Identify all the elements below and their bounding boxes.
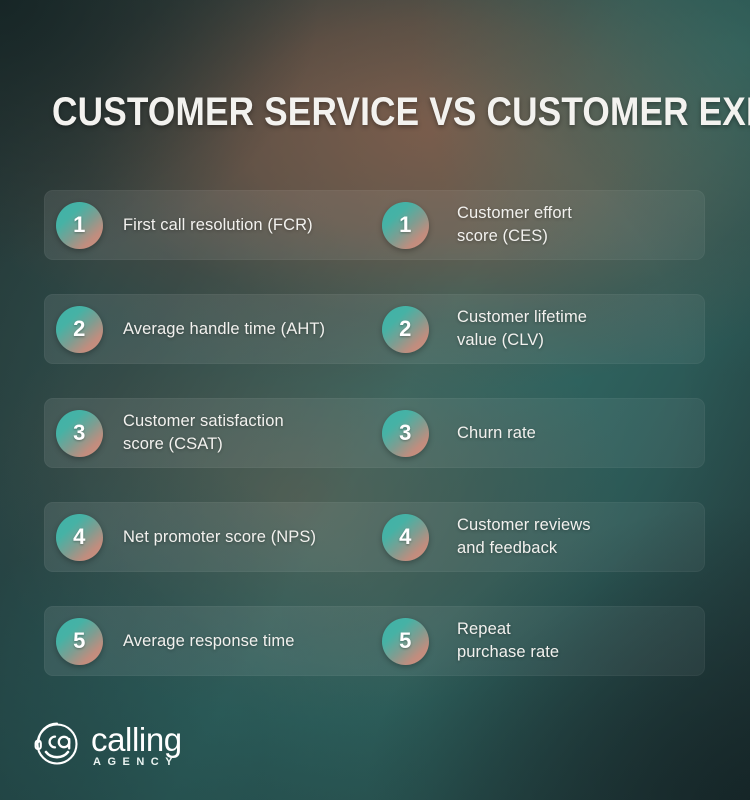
- customer-service-cell: 2 Average handle time (AHT): [44, 294, 374, 364]
- number-badge: 2: [382, 306, 429, 353]
- metric-label: Churn rate: [457, 422, 536, 445]
- metric-label: Customer lifetime value (CLV): [457, 306, 587, 352]
- metric-label: Repeat purchase rate: [457, 618, 559, 664]
- number-badge: 2: [56, 306, 103, 353]
- customer-experience-cell: 5 Repeat purchase rate: [374, 606, 705, 676]
- page-title: CUSTOMER SERVICE VS CUSTOMER EXPERIENCE: [52, 90, 633, 134]
- list-item: 2 Average handle time (AHT) 2 Customer l…: [44, 294, 705, 364]
- headset-circle-ca-monogram-icon: [30, 718, 82, 775]
- metric-label: Average response time: [123, 630, 294, 653]
- customer-experience-cell: 4 Customer reviews and feedback: [374, 502, 705, 572]
- number-badge-value: 5: [399, 630, 412, 652]
- metric-label: Net promoter score (NPS): [123, 526, 316, 549]
- number-badge-value: 5: [73, 630, 86, 652]
- metric-label: Average handle time (AHT): [123, 318, 325, 341]
- infographic-canvas: CUSTOMER SERVICE VS CUSTOMER EXPERIENCE …: [0, 0, 750, 800]
- list-item: 3 Customer satisfaction score (CSAT) 3 C…: [44, 398, 705, 468]
- customer-experience-cell: 2 Customer lifetime value (CLV): [374, 294, 705, 364]
- list-item: 5 Average response time 5 Repeat purchas…: [44, 606, 705, 676]
- metric-label: Customer reviews and feedback: [457, 514, 591, 560]
- list-item: 1 First call resolution (FCR) 1 Customer…: [44, 190, 705, 260]
- logo-text: calling AGENCY: [91, 724, 182, 769]
- logo-subtitle: AGENCY: [93, 756, 182, 769]
- number-badge: 4: [56, 514, 103, 561]
- metric-label: First call resolution (FCR): [123, 214, 313, 237]
- comparison-list: 1 First call resolution (FCR) 1 Customer…: [44, 190, 705, 710]
- number-badge: 5: [382, 618, 429, 665]
- metric-label: Customer satisfaction score (CSAT): [123, 410, 284, 456]
- brand-logo: calling AGENCY: [30, 718, 182, 775]
- customer-experience-cell: 1 Customer effort score (CES): [374, 190, 705, 260]
- number-badge: 1: [56, 202, 103, 249]
- customer-service-cell: 3 Customer satisfaction score (CSAT): [44, 398, 374, 468]
- number-badge: 3: [382, 410, 429, 457]
- number-badge-value: 4: [399, 526, 412, 548]
- number-badge-value: 3: [73, 422, 86, 444]
- customer-service-cell: 4 Net promoter score (NPS): [44, 502, 374, 572]
- number-badge: 1: [382, 202, 429, 249]
- logo-wordmark: calling: [91, 724, 182, 755]
- number-badge-value: 4: [73, 526, 86, 548]
- metric-label: Customer effort score (CES): [457, 202, 572, 248]
- number-badge: 3: [56, 410, 103, 457]
- number-badge-value: 2: [73, 318, 86, 340]
- number-badge-value: 3: [399, 422, 412, 444]
- customer-experience-cell: 3 Churn rate: [374, 398, 705, 468]
- number-badge-value: 1: [399, 214, 412, 236]
- list-item: 4 Net promoter score (NPS) 4 Customer re…: [44, 502, 705, 572]
- customer-service-cell: 1 First call resolution (FCR): [44, 190, 374, 260]
- number-badge: 4: [382, 514, 429, 561]
- number-badge-value: 2: [399, 318, 412, 340]
- number-badge-value: 1: [73, 214, 86, 236]
- number-badge: 5: [56, 618, 103, 665]
- customer-service-cell: 5 Average response time: [44, 606, 374, 676]
